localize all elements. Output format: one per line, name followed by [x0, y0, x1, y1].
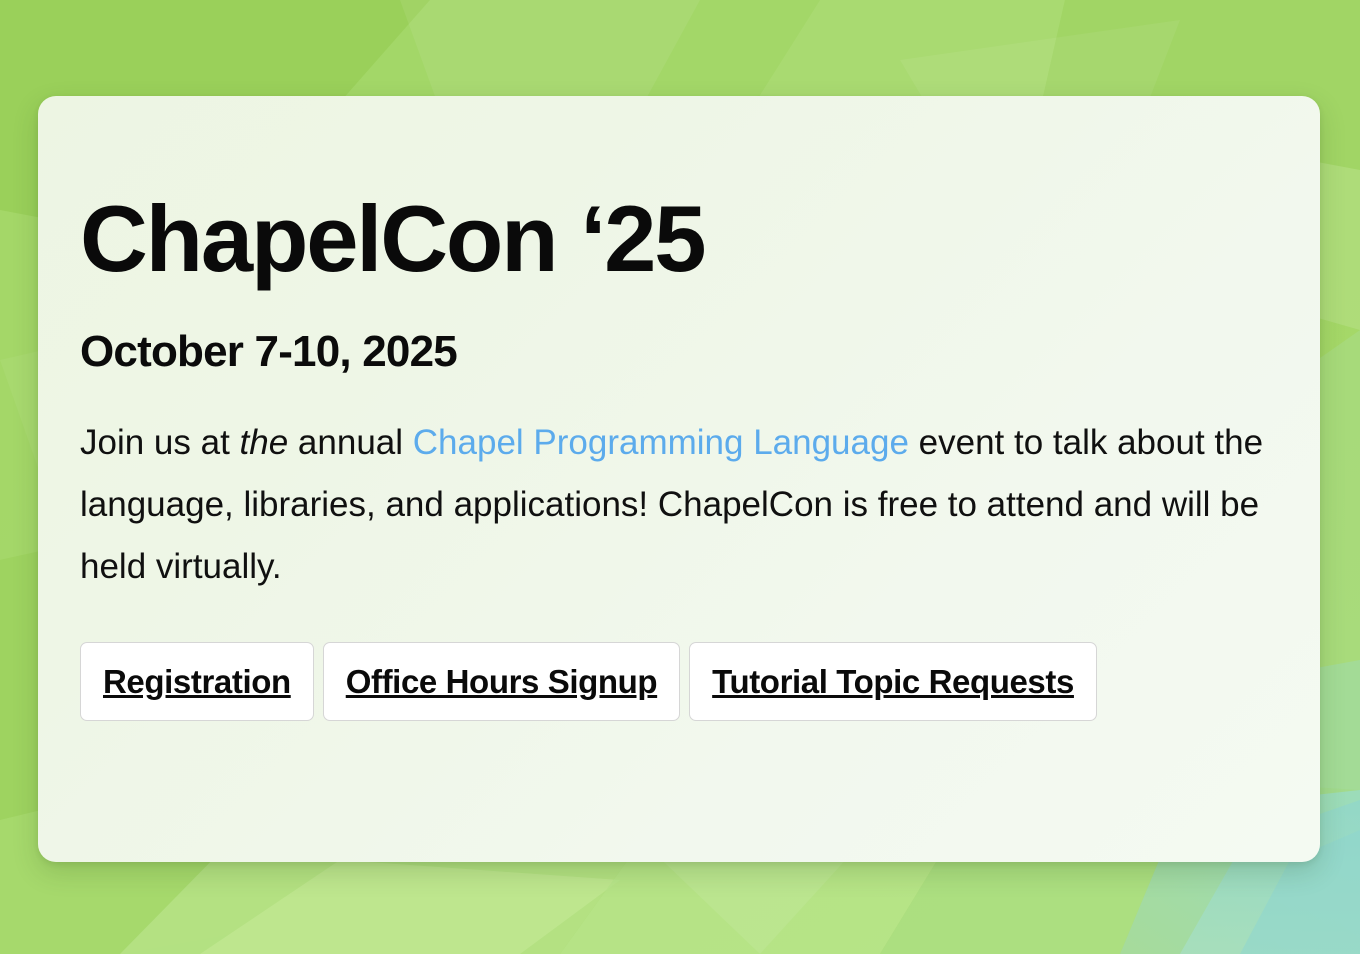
- registration-button[interactable]: Registration: [80, 642, 314, 721]
- event-dates: October 7-10, 2025: [80, 330, 1320, 374]
- hero-card: ChapelCon ‘25 October 7-10, 2025 Join us…: [38, 96, 1320, 862]
- paragraph-lead: Join us at: [80, 423, 240, 462]
- office-hours-signup-button[interactable]: Office Hours Signup: [323, 642, 680, 721]
- page-title: ChapelCon ‘25: [80, 192, 1320, 286]
- paragraph-emphasis: the: [240, 423, 289, 462]
- tutorial-topic-requests-button[interactable]: Tutorial Topic Requests: [689, 642, 1097, 721]
- chapel-programming-language-link[interactable]: Chapel Programming Language: [413, 423, 909, 462]
- intro-paragraph: Join us at the annual Chapel Programming…: [80, 412, 1266, 598]
- cta-button-row: Registration Office Hours Signup Tutoria…: [80, 642, 1320, 721]
- paragraph-middle: annual: [288, 423, 413, 462]
